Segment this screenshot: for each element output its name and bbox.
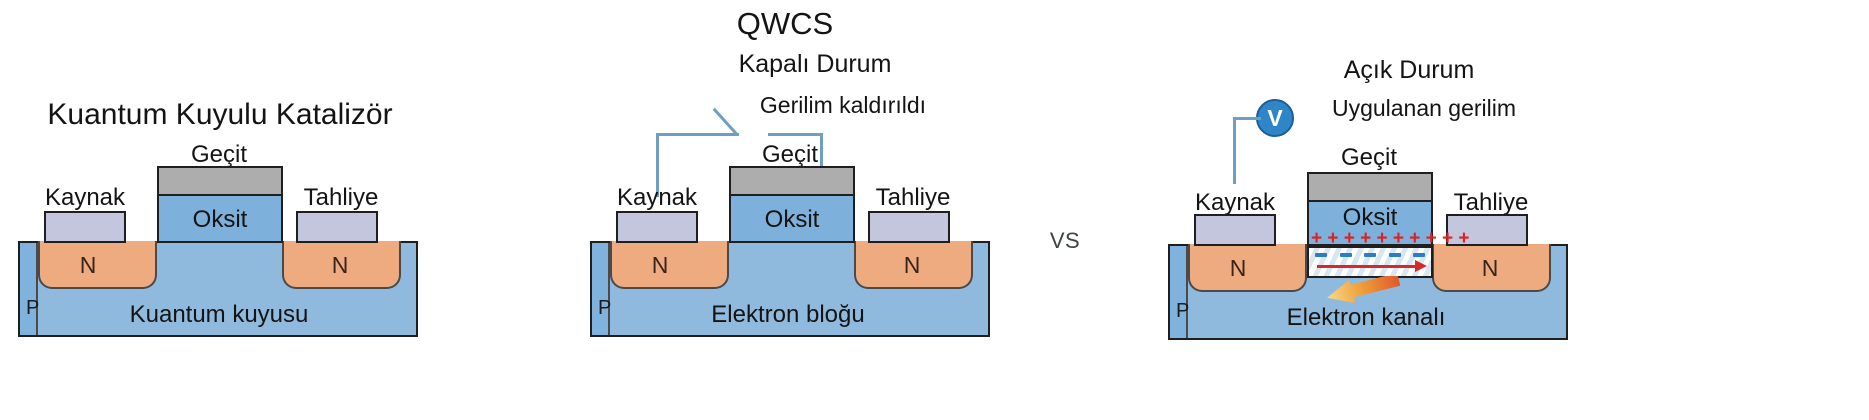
current-arrow-head	[1415, 260, 1427, 272]
electron-dash	[1413, 253, 1425, 257]
current-arrow-shaft	[1317, 265, 1415, 268]
panel-3-source-contact	[1194, 214, 1276, 246]
panel-3-source-label: Kaynak	[1195, 191, 1275, 215]
panel-3-n-left-label: N	[1230, 257, 1247, 280]
panel-1-n-left-label: N	[80, 254, 97, 277]
panel-1-source-contact	[44, 211, 126, 243]
panel-2-wire-right-horizontal	[768, 133, 823, 136]
panel-3-wire-vertical	[1233, 117, 1236, 184]
panel-2-n-left-label: N	[652, 254, 669, 277]
panel-2-n-right-label: N	[904, 254, 921, 277]
negative-charge-row	[1315, 253, 1425, 257]
panel-3-subtitle: Açık Durum	[1344, 58, 1475, 83]
panel-2-subtitle: Kapalı Durum	[739, 52, 892, 77]
panel-2-substrate-caption: Elektron bloğu	[711, 303, 864, 327]
panel-2-drain-label: Tahliye	[876, 186, 951, 210]
figure-title: QWCS	[737, 8, 833, 39]
panel-2-source-label: Kaynak	[617, 186, 697, 210]
panel-2-well-edge	[592, 243, 610, 335]
panel-2-drain-contact	[868, 211, 950, 243]
panel-1-drain-contact	[296, 211, 378, 243]
panel-1-gate-metal	[157, 166, 283, 196]
panel-3-oxide-label: Oksit	[1343, 206, 1398, 230]
panel-2-wire-right-vertical	[820, 133, 823, 167]
panel-1-n-source	[38, 241, 157, 289]
voltmeter-icon: V	[1256, 99, 1294, 137]
panel-1-oxide-label: Oksit	[193, 208, 248, 232]
panel-1-substrate-caption: Kuantum kuyusu	[130, 303, 309, 327]
panel-1-well-edge	[20, 243, 38, 335]
panel-3-gate-metal	[1307, 172, 1433, 202]
electron-dash	[1389, 253, 1401, 257]
panel-1-drain-label: Tahliye	[304, 186, 379, 210]
panel-2-note: Gerilim kaldırıldı	[760, 94, 926, 117]
panel-3-gate-label: Geçit	[1341, 146, 1397, 170]
electron-dash	[1364, 253, 1376, 257]
panel-1-p-label: P	[26, 298, 39, 318]
panel-1-gate-label: Geçit	[191, 143, 247, 167]
panel-2-switch-arm	[713, 108, 738, 135]
panel-2-gate-metal	[729, 166, 855, 196]
inversion-channel	[1307, 246, 1433, 278]
panel-2-source-contact	[616, 211, 698, 243]
panel-3-note: Uygulanan gerilim	[1332, 97, 1516, 120]
panel-2-wire-left-horizontal	[656, 133, 739, 136]
panel-1-title: Kuantum Kuyulu Katalizör	[47, 100, 392, 130]
electron-dash	[1340, 253, 1352, 257]
panel-2-gate-label: Geçit	[762, 143, 818, 167]
panel-3-p-label: P	[1176, 301, 1189, 321]
panel-2-n-source	[610, 241, 729, 289]
panel-1-source-label: Kaynak	[45, 186, 125, 210]
comparison-label: VS	[1050, 230, 1080, 252]
panel-3-n-right-label: N	[1482, 257, 1499, 280]
electron-dash	[1315, 253, 1327, 257]
panel-2-p-label: P	[598, 298, 611, 318]
panel-3-wire-horizontal	[1233, 117, 1261, 120]
panel-3-drain-label: Tahliye	[1454, 191, 1529, 215]
panel-3-substrate-caption: Elektron kanalı	[1287, 306, 1446, 330]
panel-3-n-source	[1188, 244, 1307, 292]
panel-3-well-edge	[1170, 246, 1188, 338]
figure-canvas: QWCS Kuantum Kuyulu Katalizör Geçit Kayn…	[0, 0, 1869, 420]
panel-1-n-right-label: N	[332, 254, 349, 277]
panel-2-oxide-label: Oksit	[765, 208, 820, 232]
